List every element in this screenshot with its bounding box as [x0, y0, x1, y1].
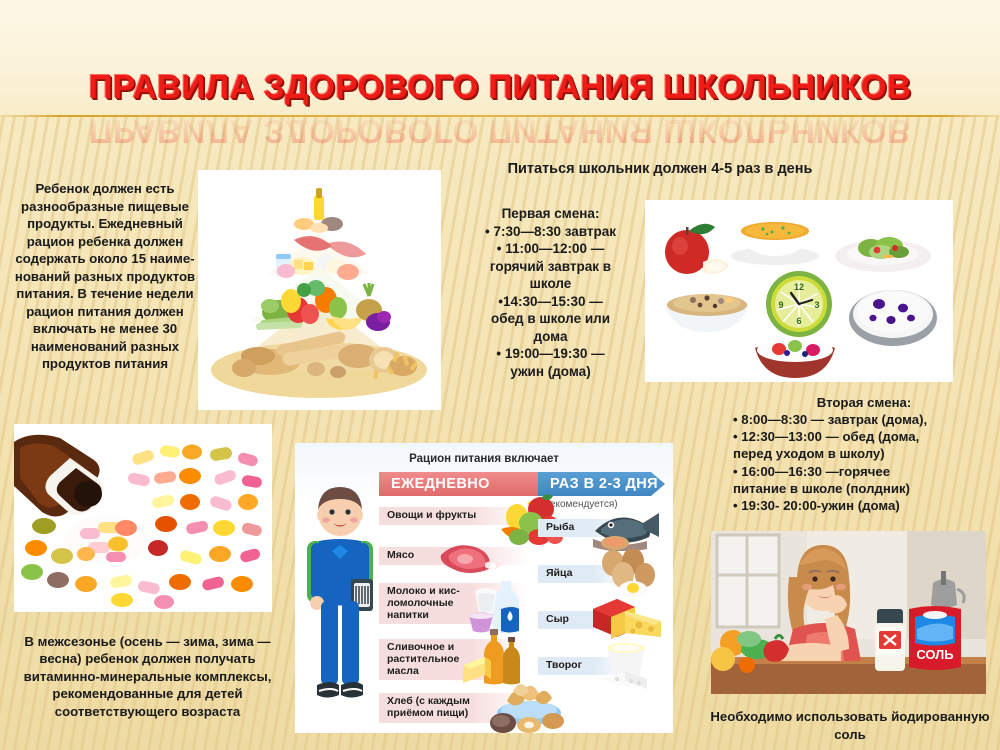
first-shift-line-3: школе	[468, 275, 633, 293]
page-title-reflection: ПРАВИЛА ЗДОРОВОГО ПИТАНИЯ ШКОЛЬНИКОВ	[0, 112, 1000, 150]
periodic-item-1-label: Яйца	[546, 568, 572, 580]
daily-item-4-line-0: Хлеб (с каждым	[387, 696, 470, 708]
second-shift-line-5: • 19:30- 20:00-ужин (дома)	[733, 497, 995, 514]
page-title: ПРАВИЛА ЗДОРОВОГО ПИТАНИЯ ШКОЛЬНИКОВ	[0, 68, 1000, 106]
girl-with-salt-illustration: СОЛЬ	[711, 531, 986, 694]
first-shift-line-1: • 11:00—12:00 —	[468, 240, 633, 258]
daily-item-2-line-2: напитки	[387, 610, 429, 622]
second-shift-line-3: • 16:00—16:30 —горячее	[733, 463, 995, 480]
first-shift-line-5: обед в школе или	[468, 310, 633, 328]
bread-icon	[485, 679, 573, 733]
daily-item-2-line-0: Молоко и кис-	[387, 586, 460, 598]
girl-with-salt-photo: СОЛЬ	[711, 531, 986, 694]
milk-products-icon	[467, 575, 531, 637]
first-shift-line-6: дома	[468, 328, 633, 346]
first-shift-line-7: • 19:00—19:30 —	[468, 345, 633, 363]
food-pyramid-illustration	[198, 170, 441, 410]
second-shift-heading: Вторая смена:	[733, 394, 995, 411]
food-pyramid-photo	[198, 170, 441, 410]
daily-item-3-line-1: растительное	[387, 654, 459, 666]
second-shift-line-2: перед уходом в школу)	[733, 445, 995, 462]
first-shift-block: Первая смена: • 7:30—8:30 завтрак • 11:0…	[468, 205, 633, 380]
poster-title-area: ПРАВИЛА ЗДОРОВОГО ПИТАНИЯ ШКОЛЬНИКОВ ПРА…	[0, 68, 1000, 158]
first-shift-line-4: •14:30—15:30 —	[468, 293, 633, 311]
first-shift-line-2: горячий завтрак в	[468, 258, 633, 276]
svg-text:12: 12	[794, 282, 804, 292]
daily-item-3-line-0: Сливочное и	[387, 642, 454, 654]
daily-item-1-label: Мясо	[387, 550, 414, 562]
second-shift-line-1: • 12:30—13:00 — обед (дома,	[733, 428, 995, 445]
title-divider-rule	[0, 115, 1000, 117]
ration-infographic-title: Рацион питания включает	[295, 453, 673, 465]
periodic-item-3-label: Творог	[546, 660, 582, 672]
salt-text-block: Необходимо использовать йодированную сол…	[710, 708, 990, 744]
second-shift-line-0: • 8:00—8:30 — завтрак (дома),	[733, 411, 995, 428]
meals-heading: Питаться школьник должен 4-5 раз в день	[470, 160, 850, 179]
daily-item-2-line-1: ломолочные	[387, 598, 454, 610]
cottage-cheese-icon	[595, 641, 667, 693]
periodic-item-2-label: Сыр	[546, 614, 569, 626]
svg-text:9: 9	[778, 300, 783, 310]
poster-root: ПРАВИЛА ЗДОРОВОГО ПИТАНИЯ ШКОЛЬНИКОВ ПРА…	[0, 0, 1000, 750]
vitamins-pills-illustration	[14, 424, 272, 612]
vitamins-text-block: В межсезонье (осень — зима, зима — весна…	[20, 633, 275, 720]
variety-text-block: Ребенок должен есть разнообразные пищевы…	[14, 180, 196, 373]
daily-item-0-label: Овощи и фрукты	[387, 510, 476, 522]
svg-text:3: 3	[814, 300, 819, 310]
cheese-icon	[591, 595, 667, 643]
eggs-icon	[595, 549, 665, 597]
meals-collage-illustration: 12 3 6 9	[645, 200, 953, 382]
meals-collage-photo: 12 3 6 9	[645, 200, 953, 382]
first-shift-line-0: • 7:30—8:30 завтрак	[468, 223, 633, 241]
second-shift-line-4: питание в школе (полдник)	[733, 480, 995, 497]
fish-icon	[591, 505, 663, 551]
first-shift-line-8: ужин (дома)	[468, 363, 633, 381]
svg-text:СОЛЬ: СОЛЬ	[916, 647, 953, 662]
schoolboy-illustration	[301, 479, 379, 711]
periodic-item-0-label: Рыба	[546, 522, 574, 534]
daily-item-4-line-1: приёмом пищи)	[387, 708, 468, 720]
vitamins-pills-photo	[14, 424, 272, 612]
ration-infographic: Рацион питания включает	[295, 443, 673, 733]
meat-icon	[435, 539, 505, 579]
first-shift-heading: Первая смена:	[468, 205, 633, 223]
svg-text:6: 6	[796, 316, 801, 326]
second-shift-block: Вторая смена: • 8:00—8:30 — завтрак (дом…	[733, 394, 995, 514]
daily-item-3-line-2: масла	[387, 666, 419, 678]
